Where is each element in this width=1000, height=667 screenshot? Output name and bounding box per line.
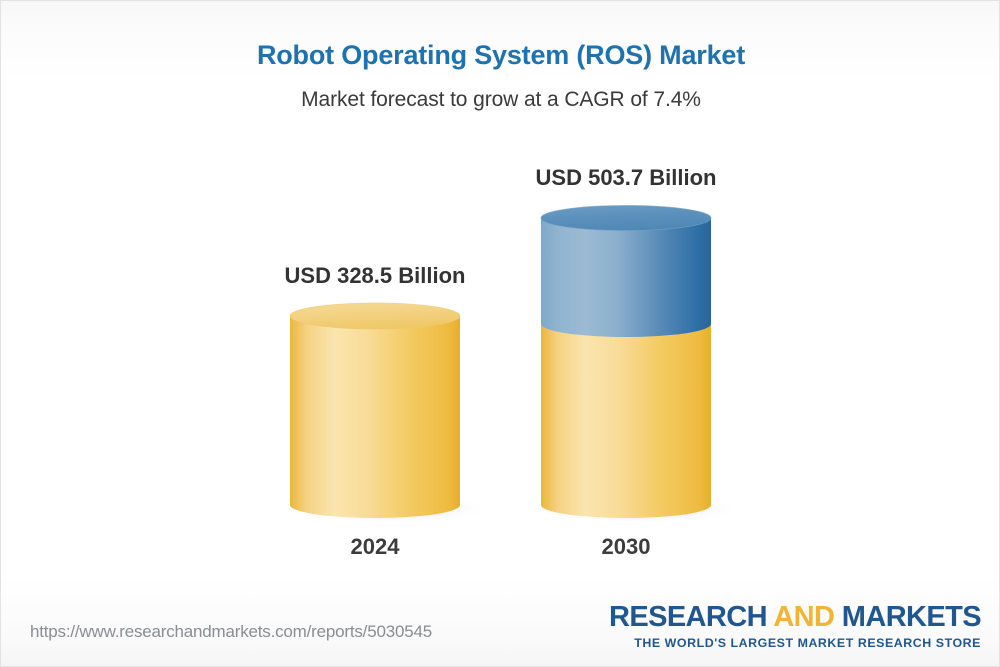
chart-canvas: Robot Operating System (ROS) Market Mark…: [0, 0, 1000, 667]
source-url[interactable]: https://www.researchandmarkets.com/repor…: [30, 622, 432, 642]
logo-markets-text: MARKETS: [834, 601, 981, 633]
value-label-2030: USD 503.7 Billion: [526, 165, 726, 191]
cylinder-chart-graphic: [1, 1, 1000, 601]
category-label-2030: 2030: [526, 534, 726, 560]
research-and-markets-logo: RESEARCH AND MARKETS THE WORLD'S LARGEST…: [609, 603, 981, 649]
logo-research-text: RESEARCH: [609, 601, 773, 633]
category-label-2024: 2024: [275, 534, 475, 560]
plot-area: USD 328.5 Billion USD 503.7 Billion 2024…: [1, 1, 1000, 601]
logo-tagline: THE WORLD'S LARGEST MARKET RESEARCH STOR…: [609, 637, 981, 649]
value-label-2024: USD 328.5 Billion: [275, 263, 475, 289]
logo-wordmark: RESEARCH AND MARKETS: [609, 603, 981, 632]
logo-and-text: AND: [773, 601, 834, 633]
